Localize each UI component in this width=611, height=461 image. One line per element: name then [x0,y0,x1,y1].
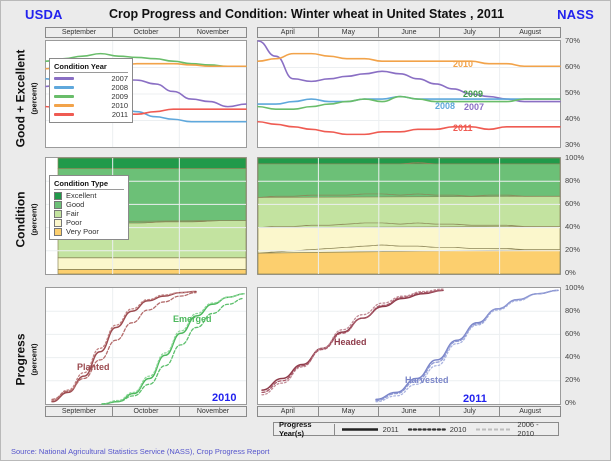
row-label-condition: Condition (percent) [12,160,39,280]
y-tick: 40% [565,223,580,231]
legend-item-good[interactable]: Good [54,200,124,209]
row-label-text: Good + Excellent [14,50,28,148]
month-label: September [46,28,113,37]
y-tick: 60% [565,200,580,208]
y-tick: 60% [565,330,580,338]
month-label: June [379,407,440,416]
series-label-harvested: Harvested [405,375,449,385]
series-label-headed: Headed [334,337,367,347]
page-header: USDA Crop Progress and Condition: Winter… [1,5,611,25]
y-axis-row1: 70% 60% 50% 40% 30% [563,37,593,149]
row-label-text: Condition [14,192,28,248]
month-label: August [500,407,560,416]
panel-good-excellent-spring [257,40,561,148]
panel-progress-fall [45,287,247,405]
y-tick: 100% [565,284,584,292]
legend-item-2011[interactable]: 2011 [54,110,128,119]
line-swatch-2008 [54,86,74,89]
legend-item-2011[interactable]: 2011 [341,425,399,434]
month-label: July [440,407,501,416]
chart-progress-fall [46,288,246,404]
series-label-year-2011: 2011 [463,393,487,405]
month-axis-spring-bottom: April May June July August [257,406,561,417]
line-sample-solid [341,425,379,434]
row-label-text: Progress [14,333,28,385]
line-sample-dashed [475,425,513,434]
y-tick: 50% [565,89,580,97]
row-label-unit: (percent) [30,39,39,159]
page-title: Crop Progress and Condition: Winter whea… [1,7,611,21]
month-label: May [319,407,380,416]
legend-item-2010[interactable]: 2010 [408,425,467,434]
condition-year-legend[interactable]: Condition Year 2007 2008 2009 2010 2011 [49,58,133,123]
color-swatch-excellent [54,192,62,200]
month-label: November [180,407,246,416]
month-label: May [319,28,380,37]
legend-divider [334,424,335,435]
legend-label: 2010 [78,101,128,110]
legend-title: Condition Year [54,62,128,73]
series-label-emerged: Emerged [173,314,212,324]
line-sample-dotted [408,425,446,434]
y-tick: 20% [565,376,580,384]
color-swatch-good [54,201,62,209]
y-tick: 100% [565,154,584,162]
y-tick: 0% [565,399,576,407]
month-axis-spring-top: April May June July August [257,27,561,38]
series-label-2009: 2009 [463,89,483,99]
legend-item-fair[interactable]: Fair [54,209,124,218]
line-swatch-2010 [54,104,74,107]
month-axis-fall-top: September October November [45,27,247,38]
month-axis-fall-bottom: September October November [45,406,247,417]
legend-label: 2011 [78,110,128,119]
month-label: April [258,28,319,37]
month-label: June [379,28,440,37]
month-label: July [440,28,501,37]
month-label: November [180,28,246,37]
legend-label: 2010 [450,425,467,434]
legend-label: Good [66,200,84,209]
y-tick: 30% [565,141,580,149]
chart-progress-spring [258,288,560,404]
row-label-progress: Progress (percent) [12,300,39,420]
month-label: April [258,407,319,416]
chart-good-excellent-spring [258,41,560,147]
legend-label: Excellent [66,191,96,200]
y-tick: 60% [565,63,580,71]
y-tick: 70% [565,37,580,45]
line-swatch-2009 [54,95,74,98]
line-swatch-2007 [54,77,74,80]
chart-page: USDA Crop Progress and Condition: Winter… [0,0,611,461]
series-label-2010: 2010 [453,59,473,69]
legend-label: 2007 [78,74,128,83]
y-axis-row2: 100% 80% 60% 40% 20% 0% [563,154,593,276]
y-tick: 80% [565,307,580,315]
legend-item-2007[interactable]: 2007 [54,74,128,83]
color-swatch-very-poor [54,228,62,236]
series-label-year-2010: 2010 [212,392,236,404]
series-label-2011: 2011 [453,123,473,133]
color-swatch-poor [54,219,62,227]
color-swatch-fair [54,210,62,218]
legend-item-poor[interactable]: Poor [54,218,124,227]
source-note: Source: National Agricultural Statistics… [11,447,269,456]
legend-item-2009[interactable]: 2009 [54,92,128,101]
legend-item-2008[interactable]: 2008 [54,83,128,92]
legend-item-2010[interactable]: 2010 [54,101,128,110]
series-label-2007: 2007 [464,102,484,112]
y-tick: 40% [565,353,580,361]
line-swatch-2011 [54,113,74,116]
legend-label: 2006 - 2010 [517,420,544,438]
series-label-planted: Planted [77,362,110,372]
legend-label: 2009 [78,92,128,101]
y-tick: 20% [565,246,580,254]
legend-label: Fair [66,209,79,218]
legend-item-2006-2010[interactable]: 2006 - 2010 [475,420,544,438]
legend-label: 2011 [383,425,399,434]
month-label: October [113,28,180,37]
y-axis-row3: 100% 80% 60% 40% 20% 0% [563,284,593,406]
series-label-2008: 2008 [435,101,455,111]
row-label-good-excellent: Good + Excellent (percent) [12,39,39,159]
legend-title: Condition Type [54,179,124,190]
row-label-unit: (percent) [30,160,39,280]
legend-label: Poor [66,218,82,227]
condition-type-legend[interactable]: Condition Type Excellent Good Fair Poor … [49,175,129,240]
month-label: September [46,407,113,416]
nass-logo: NASS [557,7,594,22]
panel-condition-spring [257,157,561,275]
legend-label: 2008 [78,83,128,92]
row-label-unit: (percent) [30,300,39,420]
y-tick: 80% [565,177,580,185]
y-tick: 40% [565,115,580,123]
legend-item-excellent[interactable]: Excellent [54,191,124,200]
month-label: August [500,28,560,37]
legend-label: Very Poor [66,227,99,236]
legend-item-very-poor[interactable]: Very Poor [54,227,124,236]
month-label: October [113,407,180,416]
legend-title: Progress Year(s) [279,420,329,438]
progress-year-legend[interactable]: Progress Year(s) 2011 2010 2006 - 2010 [273,422,559,436]
y-tick: 0% [565,269,576,277]
panel-progress-spring [257,287,561,405]
chart-condition-spring [258,158,560,274]
